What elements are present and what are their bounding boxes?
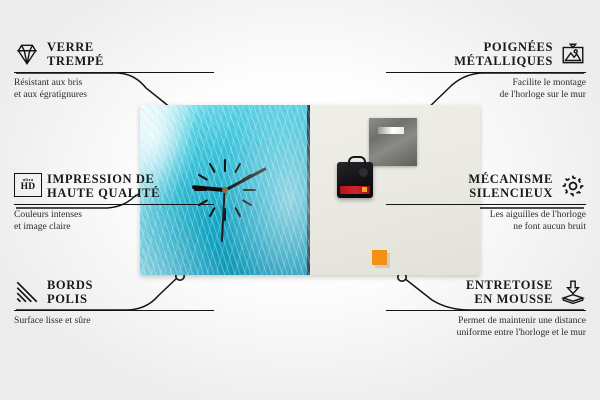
feature-desc-line1: Résistant aux bris (14, 77, 214, 89)
mechanism-dial (359, 168, 368, 177)
divider (386, 204, 586, 205)
feature-mecanisme-silencieux: MÉCANISME SILENCIEUX Les aiguilles de l'… (386, 172, 586, 232)
clock-tick (224, 159, 226, 221)
feature-bords-polis: BORDS POLIS Surface lisse et sûre (14, 278, 214, 327)
feature-title: MÉCANISME SILENCIEUX (468, 172, 553, 200)
foam-spacer-icon (560, 279, 586, 305)
feature-desc-line1: Permet de maintenir une distance (386, 315, 586, 327)
metal-hanger-plate (369, 118, 417, 166)
feature-desc-line2: et image claire (14, 221, 214, 233)
feature-desc-line1: Couleurs intenses (14, 209, 214, 221)
feature-poignees-metalliques: POIGNÉES MÉTALLIQUES Facilite le montage… (386, 40, 586, 100)
clock-tick (224, 159, 226, 221)
feature-heading: VERRE TREMPÉ (14, 40, 214, 68)
feature-desc-line2: uniforme entre l'horloge et le mur (386, 327, 586, 339)
mechanism-battery (340, 186, 370, 194)
feature-title: POIGNÉES MÉTALLIQUES (454, 40, 553, 68)
clock-mechanism-box (337, 162, 373, 198)
polished-edge-icon (14, 279, 40, 305)
feature-desc-line2: et aux égratignures (14, 89, 214, 101)
feature-heading: MÉCANISME SILENCIEUX (386, 172, 586, 200)
clock-minute-hand (224, 167, 266, 191)
feature-desc-line2: ne font aucun bruit (386, 221, 586, 233)
mechanism-hanging-loop (348, 156, 366, 167)
ultra-hd-icon: ultra HD (14, 173, 40, 199)
divider (386, 310, 586, 311)
ultra-hd-bottom-text: HD (21, 183, 36, 193)
feature-title: VERRE TREMPÉ (47, 40, 104, 68)
feature-verre-trempe: VERRE TREMPÉ Résistant aux bris et aux é… (14, 40, 214, 100)
diamond-icon (14, 41, 40, 67)
feature-title: BORDS POLIS (47, 278, 93, 306)
divider (14, 204, 214, 205)
hanging-frame-icon (560, 41, 586, 67)
gear-icon (560, 173, 586, 199)
divider (14, 72, 214, 73)
feature-desc-line1: Surface lisse et sûre (14, 315, 214, 327)
divider (14, 310, 214, 311)
feature-heading: BORDS POLIS (14, 278, 214, 306)
feature-impression-haute-qualite: ultra HD IMPRESSION DE HAUTE QUALITÉ Cou… (14, 172, 214, 232)
feature-desc-line1: Les aiguilles de l'horloge (386, 209, 586, 221)
clock-hub (222, 187, 228, 193)
feature-desc-line1: Facilite le montage (386, 77, 586, 89)
feature-desc-line2: de l'horloge sur le mur (386, 89, 586, 101)
feature-heading: POIGNÉES MÉTALLIQUES (386, 40, 586, 68)
foam-spacer (372, 250, 387, 265)
feature-title: IMPRESSION DE HAUTE QUALITÉ (47, 172, 160, 200)
feature-entretoise-en-mousse: ENTRETOISE EN MOUSSE Permet de maintenir… (386, 278, 586, 338)
feature-heading: ultra HD IMPRESSION DE HAUTE QUALITÉ (14, 172, 214, 200)
clock-second-hand (221, 190, 225, 242)
infographic-canvas: VERRE TREMPÉ Résistant aux bris et aux é… (0, 0, 600, 400)
feature-heading: ENTRETOISE EN MOUSSE (386, 278, 586, 306)
divider (386, 72, 586, 73)
feature-title: ENTRETOISE EN MOUSSE (466, 278, 553, 306)
